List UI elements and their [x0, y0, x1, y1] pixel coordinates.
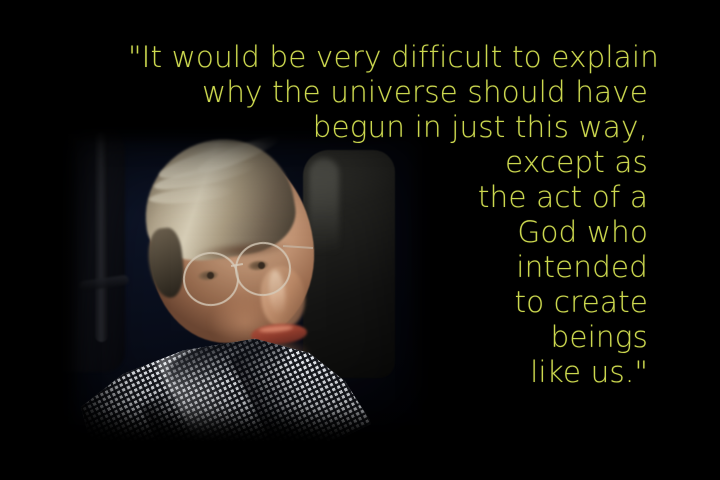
quote-image-canvas: "It would be very difficult to explain w… [0, 0, 720, 480]
quote-line-4: except as [128, 145, 648, 180]
quote-line-10: like us." [128, 355, 648, 390]
quote-line-6: God who [128, 215, 648, 250]
photo-edge-fade-bottom [57, 407, 440, 445]
quote-line-3: begun in just this way, [128, 110, 648, 145]
quote-line-9: beings [128, 320, 648, 355]
quote-line-8: to create [128, 285, 648, 320]
quote-line-1: "It would be very difficult to explain [128, 40, 648, 75]
quote-text-block: "It would be very difficult to explain w… [128, 40, 648, 390]
quote-line-7: intended [128, 250, 648, 285]
wheelchair-frame-bar [95, 132, 108, 342]
photo-edge-fade-left [57, 122, 79, 445]
quote-line-5: the act of a [128, 180, 648, 215]
quote-line-2: why the universe should have [128, 75, 648, 110]
